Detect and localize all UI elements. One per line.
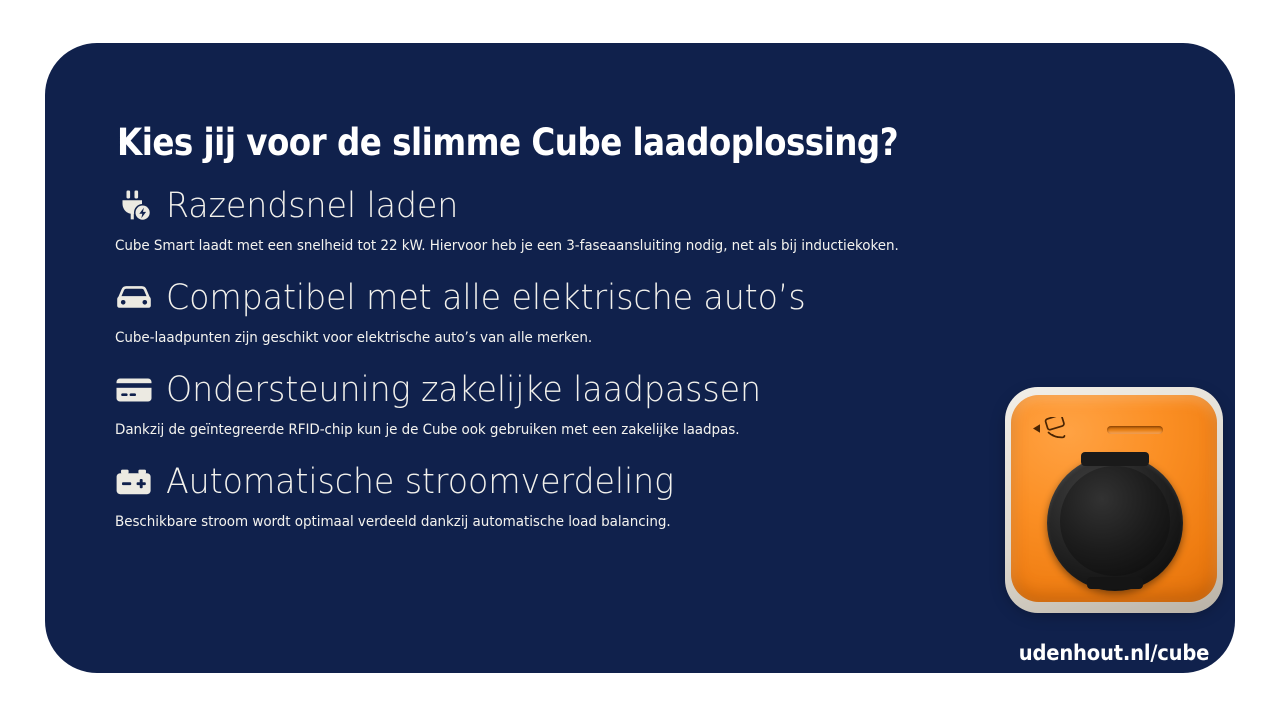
product-body [1011,395,1217,602]
feature-title: Razendsnel laden [166,189,458,224]
feature-description: Cube Smart laadt met een snelheid tot 22… [115,238,1071,254]
feature-heading-row: Razendsnel laden [113,183,1143,229]
feature-title: Ondersteuning zakelijke laadpassen [166,373,761,408]
feature-description: Dankzij de geïntegreerde RFID-chip kun j… [115,422,1071,438]
socket-latch [1087,577,1143,589]
feature-title: Automatische stroomverdeling [166,465,674,500]
feature-description: Beschikbare stroom wordt optimaal verdee… [115,514,1071,530]
feature-heading-row: Compatibel met alle elektrische auto’s [113,275,1143,321]
page-title: Kies jij voor de slimme Cube laadoplossi… [117,121,898,164]
feature-item-razendsnel-laden: Razendsnel laden Cube Smart laadt met ee… [113,183,1143,254]
feature-item-stroomverdeling: Automatische stroomverdeling Beschikbare… [113,459,1143,530]
feature-title: Compatibel met alle elektrische auto’s [166,281,806,316]
feature-item-compatibel-alle-autos: Compatibel met alle elektrische auto’s C… [113,275,1143,346]
promo-card: Kies jij voor de slimme Cube laadoplossi… [45,43,1235,673]
feature-item-zakelijke-laadpassen: Ondersteuning zakelijke laadpassen Dankz… [113,367,1143,438]
feature-heading-row: Automatische stroomverdeling [113,459,1143,505]
rfid-card-hand-icon [1031,417,1083,443]
socket-hinge [1081,452,1149,466]
site-url-label[interactable]: udenhout.nl/cube [1011,641,1217,665]
status-led-bar [1107,426,1163,434]
socket-cover [1060,466,1170,576]
credit-card-icon [113,371,155,409]
battery-icon [113,463,155,501]
product-image-cube-charging-station [1003,387,1225,616]
plug-lightning-icon [113,187,155,225]
feature-heading-row: Ondersteuning zakelijke laadpassen [113,367,1143,413]
charging-socket [1047,455,1183,591]
poster-canvas: Kies jij voor de slimme Cube laadoplossi… [0,0,1280,720]
car-front-icon [113,279,155,317]
feature-description: Cube-laadpunten zijn geschikt voor elekt… [115,330,1071,346]
feature-list: Razendsnel laden Cube Smart laadt met ee… [113,183,1143,530]
